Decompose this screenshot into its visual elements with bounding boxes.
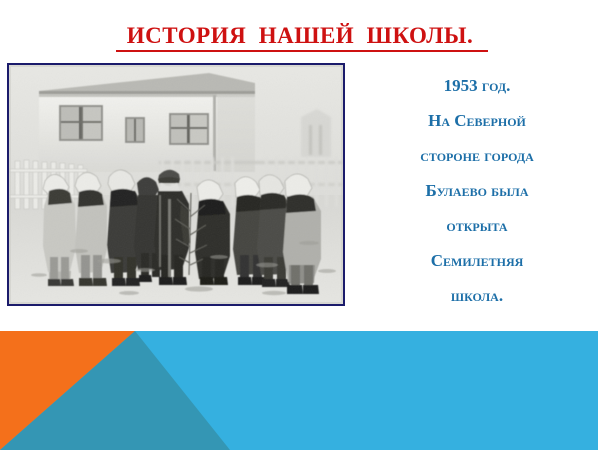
title-underline bbox=[116, 50, 488, 52]
caption-line-2: На Северной bbox=[358, 103, 596, 138]
slide-canvas: ИСТОРИЯ НАШЕЙ ШКОЛЫ. bbox=[0, 0, 600, 450]
caption-line-6: Семилетняя bbox=[358, 243, 596, 278]
historical-photo bbox=[7, 63, 345, 306]
caption-line-4: Булаево была bbox=[358, 173, 596, 208]
caption-line-7: школа. bbox=[358, 278, 596, 313]
caption-line-3: стороне города bbox=[358, 138, 596, 173]
caption-text: 1953 год. На Северной стороне города Бул… bbox=[358, 68, 596, 313]
page-title: ИСТОРИЯ НАШЕЙ ШКОЛЫ. bbox=[0, 24, 600, 48]
photo-image bbox=[9, 65, 343, 304]
caption-line-1: 1953 год. bbox=[358, 68, 596, 103]
caption-line-5: открыта bbox=[358, 208, 596, 243]
footer-decoration bbox=[0, 331, 598, 450]
